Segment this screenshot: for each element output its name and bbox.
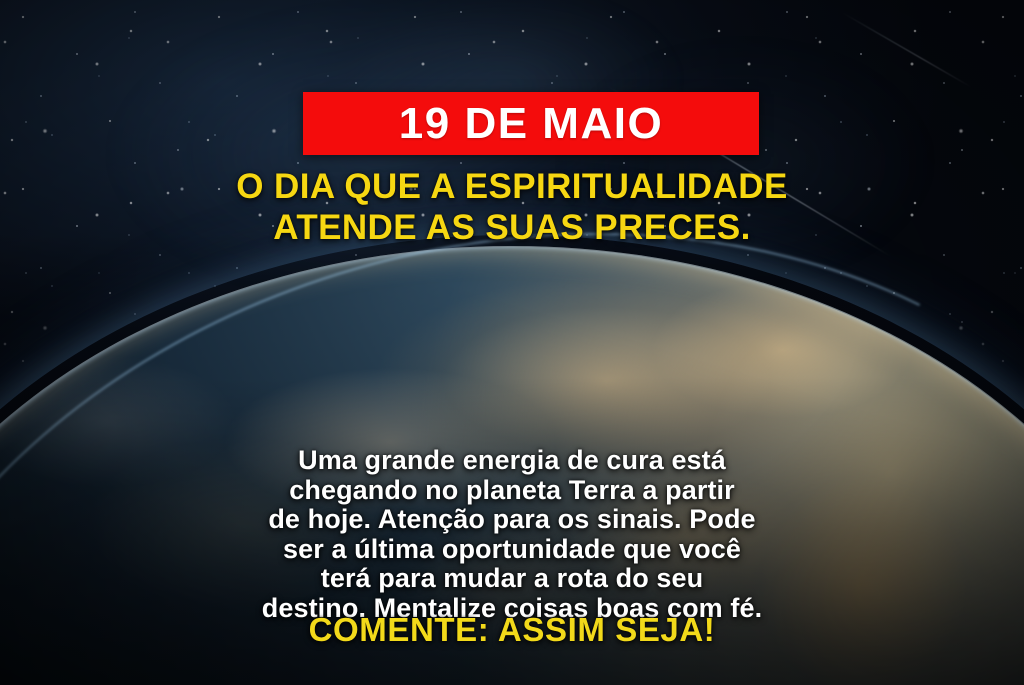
body-line-1: Uma grande energia de cura está [47, 446, 977, 476]
body-paragraph: Uma grande energia de cura está chegando… [47, 446, 977, 623]
date-banner-label: 19 DE MAIO [399, 102, 663, 146]
headline-line-1: O DIA QUE A ESPIRITUALIDADE [40, 166, 984, 207]
call-to-action-text: COMENTE: ASSIM SEJA! [0, 612, 1024, 648]
body-line-4: ser a última oportunidade que você [47, 535, 977, 565]
body-line-5: terá para mudar a rota do seu [47, 564, 977, 594]
date-banner: 19 DE MAIO [303, 92, 759, 155]
body-line-2: chegando no planeta Terra a partir [47, 476, 977, 506]
poster-canvas: 19 DE MAIO O DIA QUE A ESPIRITUALIDADE A… [0, 0, 1024, 685]
headline: O DIA QUE A ESPIRITUALIDADE ATENDE AS SU… [0, 166, 1024, 249]
body-line-3: de hoje. Atenção para os sinais. Pode [47, 505, 977, 535]
poster-content: 19 DE MAIO O DIA QUE A ESPIRITUALIDADE A… [0, 0, 1024, 685]
headline-line-2: ATENDE AS SUAS PRECES. [40, 207, 984, 248]
